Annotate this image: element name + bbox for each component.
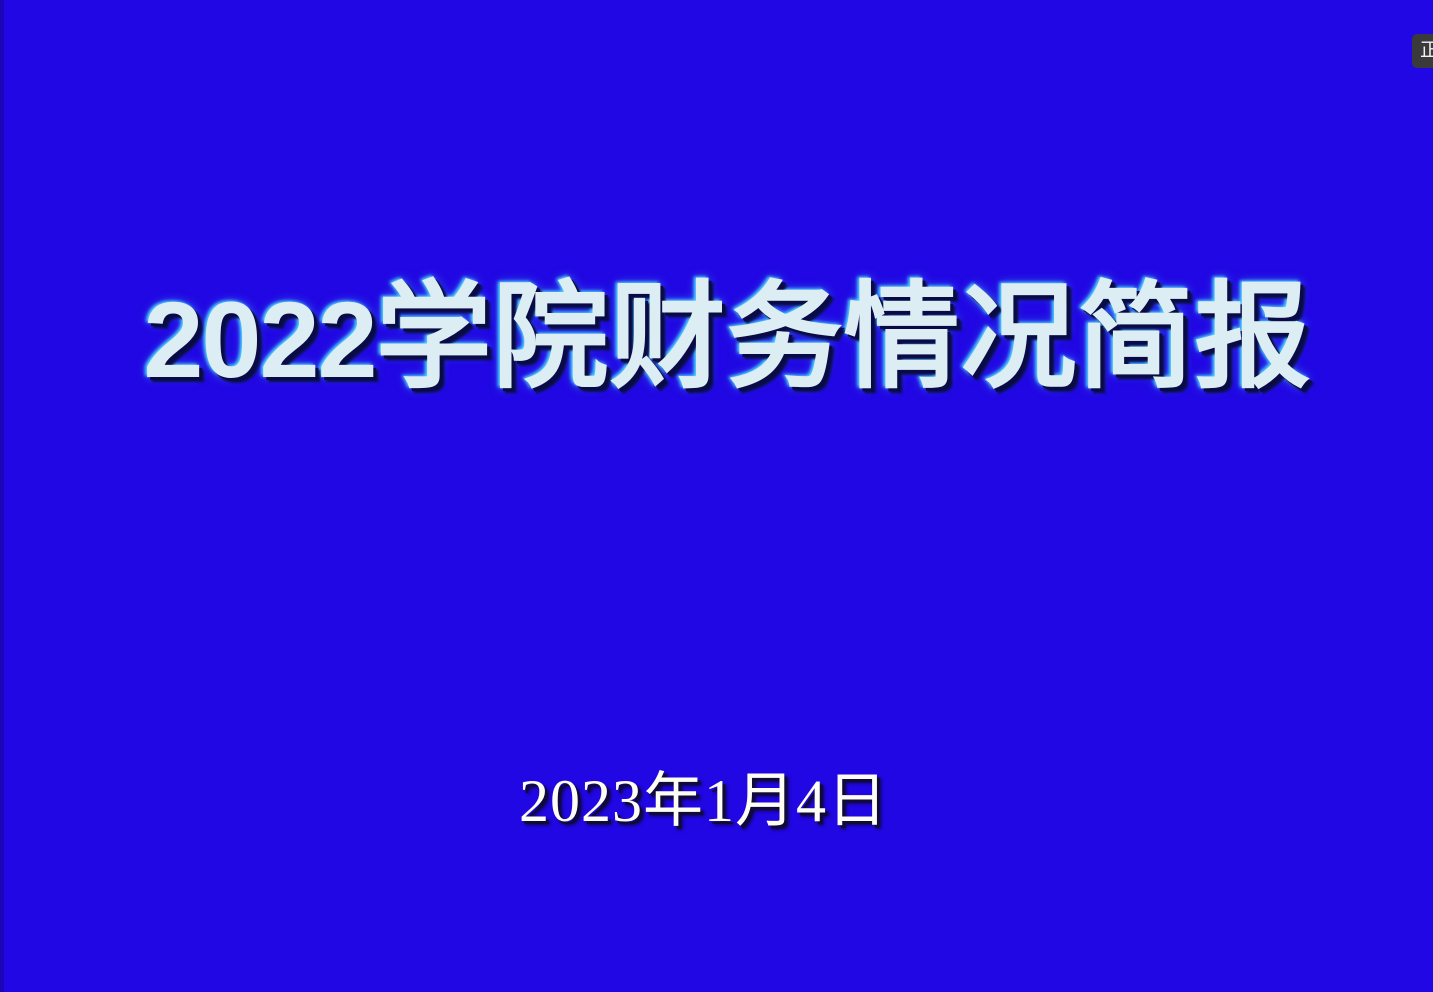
frame-left-edge-strip <box>0 0 4 992</box>
slide-date-text: 2023年1月4日 <box>519 752 914 839</box>
slide-title-text: 学院财务情况简报 <box>376 275 1312 403</box>
status-toast-label: 正 <box>1420 34 1433 68</box>
status-toast-badge[interactable]: 正 <box>1412 34 1433 68</box>
slide-title: 2022学院财务情况简报 <box>0 281 1433 397</box>
slide-title-line: 2022学院财务情况简报 <box>121 281 1311 397</box>
slide-date: 2023年1月4日 <box>0 752 1433 839</box>
slide-title-year: 2022 <box>143 279 375 400</box>
presentation-slide: 2022学院财务情况简报 2023年1月4日 正 <box>0 0 1433 992</box>
